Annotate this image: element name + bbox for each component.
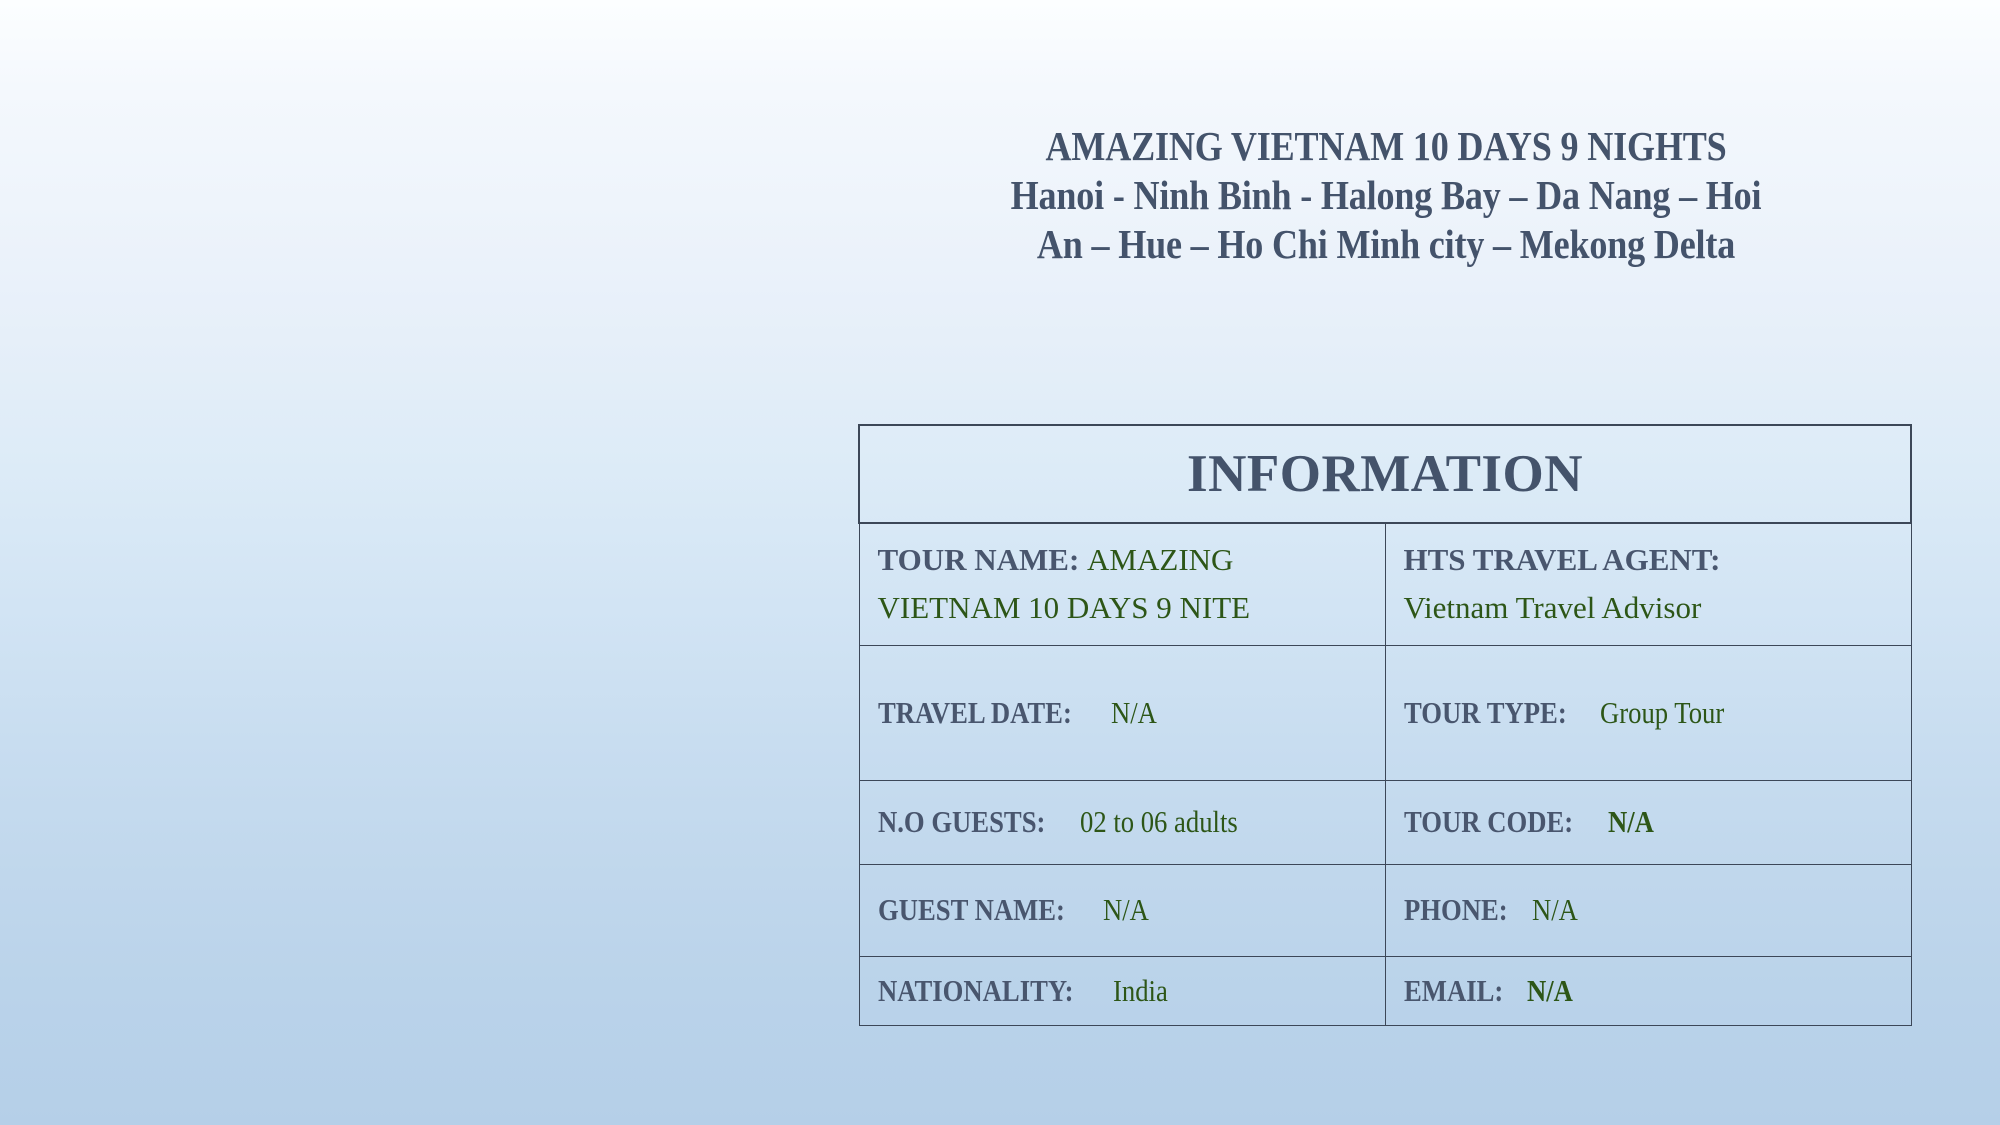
table-row: NATIONALITY: India EMAIL: N/A <box>859 956 1911 1025</box>
label-guest-name: GUEST NAME: <box>878 886 1065 934</box>
cell-number-of-guests: N.O GUESTS: 02 to 06 adults <box>859 780 1385 864</box>
information-header-label: INFORMATION <box>1187 445 1583 503</box>
label-tour-code: TOUR CODE: <box>1404 798 1573 846</box>
value-hts-travel-agent: Vietnam Travel Advisor <box>1404 590 1702 625</box>
cell-nationality: NATIONALITY: India <box>859 956 1385 1025</box>
title-line-1: AMAZING VIETNAM 10 DAYS 9 NIGHTS <box>921 122 1850 171</box>
table-row: GUEST NAME: N/A PHONE: N/A <box>859 864 1911 956</box>
page-title: AMAZING VIETNAM 10 DAYS 9 NIGHTS Hanoi -… <box>921 122 1850 269</box>
cell-guest-name: GUEST NAME: N/A <box>859 864 1385 956</box>
label-tour-name: TOUR NAME: <box>878 542 1088 577</box>
label-travel-date: TRAVEL DATE: <box>878 689 1072 737</box>
table-row: TOUR NAME: AMAZING VIETNAM 10 DAYS 9 NIT… <box>859 523 1911 645</box>
information-header-cell: INFORMATION <box>859 425 1911 523</box>
label-email: EMAIL: <box>1404 967 1503 1015</box>
value-number-of-guests: 02 to 06 adults <box>1080 798 1238 846</box>
table-header-row: INFORMATION <box>859 425 1911 523</box>
table-row: N.O GUESTS: 02 to 06 adults TOUR CODE: N… <box>859 780 1911 864</box>
label-tour-type: TOUR TYPE: <box>1404 689 1567 737</box>
table-row: TRAVEL DATE: N/A TOUR TYPE: Group Tour <box>859 645 1911 780</box>
title-line-3: An – Hue – Ho Chi Minh city – Mekong Del… <box>921 220 1850 269</box>
label-number-of-guests: N.O GUESTS: <box>878 798 1045 846</box>
cell-hts-travel-agent: HTS TRAVEL AGENT: Vietnam Travel Advisor <box>1385 523 1911 645</box>
information-table: INFORMATION TOUR NAME: AMAZING VIETNAM 1… <box>858 424 1912 1026</box>
cell-phone: PHONE: N/A <box>1385 864 1911 956</box>
value-email: N/A <box>1527 967 1573 1015</box>
cell-tour-code: TOUR CODE: N/A <box>1385 780 1911 864</box>
cell-travel-date: TRAVEL DATE: N/A <box>859 645 1385 780</box>
label-nationality: NATIONALITY: <box>878 967 1074 1015</box>
title-line-2: Hanoi - Ninh Binh - Halong Bay – Da Nang… <box>921 171 1850 220</box>
label-hts-travel-agent: HTS TRAVEL AGENT: <box>1404 542 1721 577</box>
value-nationality: India <box>1113 967 1168 1015</box>
value-guest-name: N/A <box>1103 886 1149 934</box>
value-phone: N/A <box>1532 886 1578 934</box>
value-tour-code: N/A <box>1608 798 1654 846</box>
value-tour-type: Group Tour <box>1600 689 1724 737</box>
cell-tour-type: TOUR TYPE: Group Tour <box>1385 645 1911 780</box>
value-travel-date: N/A <box>1111 689 1157 737</box>
label-phone: PHONE: <box>1404 886 1508 934</box>
cell-email: EMAIL: N/A <box>1385 956 1911 1025</box>
cell-tour-name: TOUR NAME: AMAZING VIETNAM 10 DAYS 9 NIT… <box>859 523 1385 645</box>
